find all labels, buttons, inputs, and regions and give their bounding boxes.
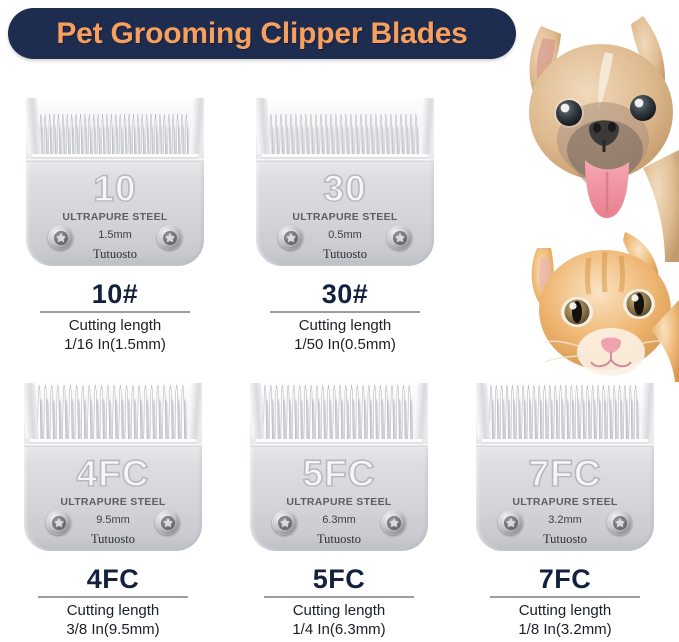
blade-emboss-number: 30 (256, 168, 434, 210)
blade-teeth-5fc (250, 381, 428, 453)
brand-label: Tutuosto (26, 247, 204, 262)
blade-code: 4FC (38, 565, 188, 593)
cat-illustration (532, 232, 679, 382)
page-title: Pet Grooming Clipper Blades (56, 17, 467, 51)
cutting-length-value: 1/16 In(1.5mm) (40, 336, 190, 355)
blade-teeth-7fc (476, 381, 654, 453)
blade-body-10: 10 ULTRAPURE STEEL 1.5mm Tutuosto (26, 159, 204, 266)
cutting-length-value: 3/8 In(9.5mm) (38, 621, 188, 640)
screw-left-icon (498, 510, 523, 535)
pets-illustration (493, 0, 679, 382)
cutting-length-label: Cutting length (270, 317, 420, 336)
teeth-graphic (256, 96, 434, 168)
blade-caption-4fc: 4FC Cutting length 3/8 In(9.5mm) (38, 565, 188, 640)
blade-code: 7FC (490, 565, 640, 593)
screw-left-icon (278, 225, 303, 250)
blade-code: 30# (270, 280, 420, 308)
blade-image-10: 10 ULTRAPURE STEEL 1.5mm Tutuosto (22, 96, 208, 266)
brand-label: Tutuosto (256, 247, 434, 262)
blade-row-top: 10 ULTRAPURE STEEL 1.5mm Tutuosto 10# Cu… (0, 96, 500, 355)
screw-right-icon (387, 225, 412, 250)
cutting-length-label: Cutting length (38, 602, 188, 621)
screw-left-icon (48, 225, 73, 250)
screw-right-icon (607, 510, 632, 535)
steel-label: ULTRAPURE STEEL (256, 211, 434, 223)
blade-teeth-10 (26, 96, 204, 168)
screw-left-icon (46, 510, 71, 535)
blade-card-7fc: 7FC ULTRAPURE STEEL 3.2mm Tutuosto 7FC C… (452, 381, 678, 640)
blade-body-7fc: 7FC ULTRAPURE STEEL 3.2mm Tutuosto (476, 444, 654, 551)
blade-teeth-30 (256, 96, 434, 168)
blade-image-7fc: 7FC ULTRAPURE STEEL 3.2mm Tutuosto (472, 381, 658, 551)
blade-body-4fc: 4FC ULTRAPURE STEEL 9.5mm Tutuosto (24, 444, 202, 551)
caption-divider (264, 596, 414, 598)
caption-divider (40, 311, 190, 313)
brand-label: Tutuosto (250, 532, 428, 547)
blade-emboss-number: 10 (26, 168, 204, 210)
teeth-graphic (250, 381, 428, 453)
blade-caption-7fc: 7FC Cutting length 1/8 In(3.2mm) (490, 565, 640, 640)
screw-right-icon (157, 225, 182, 250)
pets-photo (493, 0, 679, 382)
blade-emboss-number: 5FC (250, 453, 428, 495)
cutting-length-value: 1/8 In(3.2mm) (490, 621, 640, 640)
blade-card-5fc: 5FC ULTRAPURE STEEL 6.3mm Tutuosto 5FC C… (226, 381, 452, 640)
brand-label: Tutuosto (24, 532, 202, 547)
blade-code: 10# (40, 280, 190, 308)
blade-caption-10: 10# Cutting length 1/16 In(1.5mm) (40, 280, 190, 355)
caption-divider (270, 311, 420, 313)
product-infographic: Pet Grooming Clipper Blades 10 (0, 0, 679, 642)
blade-card-10: 10 ULTRAPURE STEEL 1.5mm Tutuosto 10# Cu… (0, 96, 230, 355)
blade-image-5fc: 5FC ULTRAPURE STEEL 6.3mm Tutuosto (246, 381, 432, 551)
blade-image-4fc: 4FC ULTRAPURE STEEL 9.5mm Tutuosto (20, 381, 206, 551)
caption-divider (38, 596, 188, 598)
teeth-graphic (24, 381, 202, 453)
steel-label: ULTRAPURE STEEL (26, 211, 204, 223)
blade-caption-5fc: 5FC Cutting length 1/4 In(6.3mm) (264, 565, 414, 640)
title-banner: Pet Grooming Clipper Blades (8, 8, 516, 59)
caption-divider (490, 596, 640, 598)
teeth-graphic (26, 96, 204, 168)
blade-card-4fc: 4FC ULTRAPURE STEEL 9.5mm Tutuosto 4FC C… (0, 381, 226, 640)
blade-body-5fc: 5FC ULTRAPURE STEEL 6.3mm Tutuosto (250, 444, 428, 551)
teeth-graphic (476, 381, 654, 453)
blade-image-30: 30 ULTRAPURE STEEL 0.5mm Tutuosto (252, 96, 438, 266)
blade-emboss-number: 7FC (476, 453, 654, 495)
blade-row-bottom: 4FC ULTRAPURE STEEL 9.5mm Tutuosto 4FC C… (0, 381, 679, 640)
steel-label: ULTRAPURE STEEL (250, 496, 428, 508)
screw-left-icon (272, 510, 297, 535)
blade-teeth-4fc (24, 381, 202, 453)
cutting-length-label: Cutting length (490, 602, 640, 621)
blade-card-30: 30 ULTRAPURE STEEL 0.5mm Tutuosto 30# Cu… (230, 96, 460, 355)
blade-emboss-number: 4FC (24, 453, 202, 495)
cutting-length-value: 1/50 In(0.5mm) (270, 336, 420, 355)
steel-label: ULTRAPURE STEEL (476, 496, 654, 508)
blade-caption-30: 30# Cutting length 1/50 In(0.5mm) (270, 280, 420, 355)
brand-label: Tutuosto (476, 532, 654, 547)
blade-code: 5FC (264, 565, 414, 593)
blade-body-30: 30 ULTRAPURE STEEL 0.5mm Tutuosto (256, 159, 434, 266)
cutting-length-label: Cutting length (40, 317, 190, 336)
cutting-length-value: 1/4 In(6.3mm) (264, 621, 414, 640)
screw-right-icon (381, 510, 406, 535)
cutting-length-label: Cutting length (264, 602, 414, 621)
screw-right-icon (155, 510, 180, 535)
dog-illustration (529, 16, 679, 262)
steel-label: ULTRAPURE STEEL (24, 496, 202, 508)
